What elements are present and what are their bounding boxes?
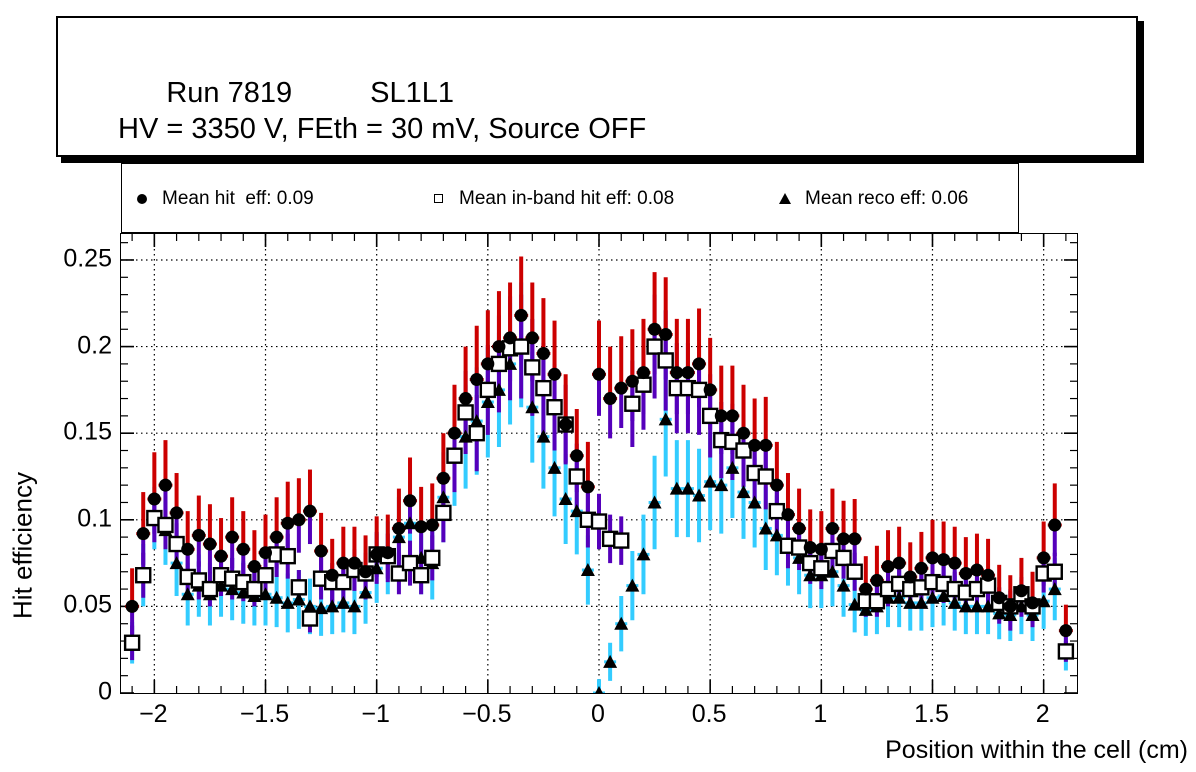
run-label: Run 7819 (166, 77, 292, 109)
y-tick-label: 0.1 (77, 504, 112, 533)
open-square-icon (419, 164, 459, 234)
title-box: Run 7819SL1L1 HV = 3350 V, FEth = 30 mV,… (56, 16, 1138, 157)
x-tick-label: 2 (1036, 700, 1050, 729)
filled-circle-icon (122, 164, 162, 234)
legend-entry-inband-hit-eff: Mean in-band hit eff: 0.08 (419, 164, 674, 234)
y-tick-label: 0.05 (63, 591, 112, 620)
y-tick-label: 0.15 (63, 418, 112, 447)
superlayer-label: SL1L1 (370, 77, 454, 109)
x-axis-label: Position within the cell (cm) (885, 736, 1188, 765)
x-tick-label: 1 (813, 700, 827, 729)
x-tick-label: 1.5 (914, 700, 949, 729)
y-tick-label: 0.2 (77, 331, 112, 360)
legend-entry-reco-eff: Mean reco eff: 0.06 (765, 164, 968, 234)
x-tick-label: −0.5 (462, 700, 511, 729)
filled-triangle-icon (765, 164, 805, 234)
x-tick-label: −2 (139, 700, 168, 729)
legend: Mean hit eff: 0.09 Mean in-band hit eff:… (121, 163, 1019, 233)
y-axis-ticklabels: 00.050.10.150.20.25 (0, 233, 112, 694)
x-tick-label: 0 (591, 700, 605, 729)
x-tick-label: −1 (361, 700, 390, 729)
plot-canvas: Run 7819SL1L1 HV = 3350 V, FEth = 30 mV,… (0, 0, 1196, 772)
legend-entry-hit-eff: Mean hit eff: 0.09 (122, 164, 314, 234)
data-layer (121, 234, 1077, 693)
x-tick-label: −1.5 (240, 700, 289, 729)
legend-label-hit-eff: Mean hit eff: 0.09 (162, 188, 314, 210)
legend-label-inband-hit-eff: Mean in-band hit eff: 0.08 (459, 188, 674, 210)
y-tick-label: 0.25 (63, 244, 112, 273)
legend-label-reco-eff: Mean reco eff: 0.06 (805, 188, 968, 210)
title-line-conditions: HV = 3350 V, FEth = 30 mV, Source OFF (118, 113, 646, 146)
plot-frame (120, 233, 1078, 694)
x-tick-label: 0.5 (692, 700, 727, 729)
x-axis-ticklabels: −2−1.5−1−0.500.511.52 (0, 700, 1196, 734)
